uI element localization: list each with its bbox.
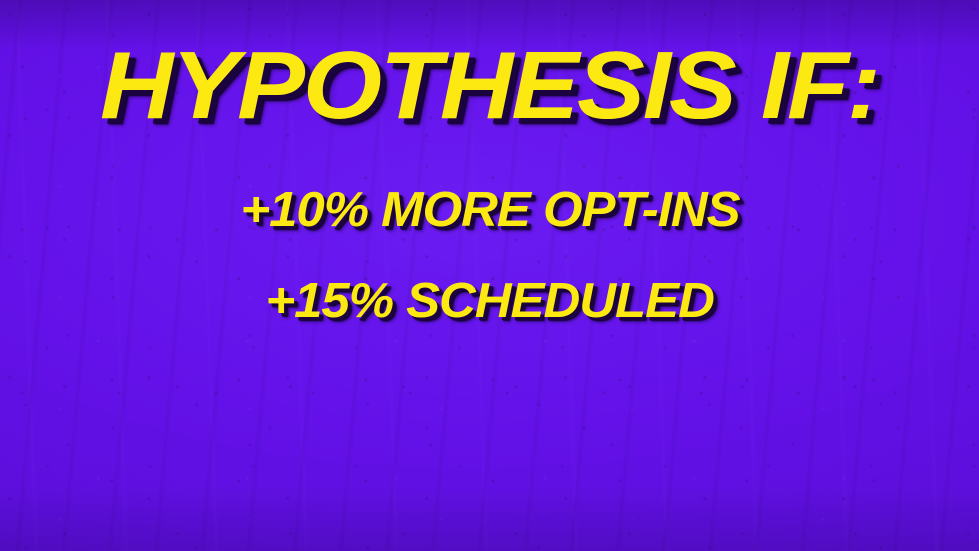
slide-bullet-opt-ins: +10% MORE OPT-INS xyxy=(240,186,739,235)
slide-bullet-scheduled: +15% SCHEDULED xyxy=(265,277,713,326)
slide-headline: HYPOTHESIS IF: xyxy=(100,38,879,134)
slide-content: HYPOTHESIS IF: +10% MORE OPT-INS +15% SC… xyxy=(0,0,979,551)
slide-canvas: HYPOTHESIS IF: +10% MORE OPT-INS +15% SC… xyxy=(0,0,979,551)
